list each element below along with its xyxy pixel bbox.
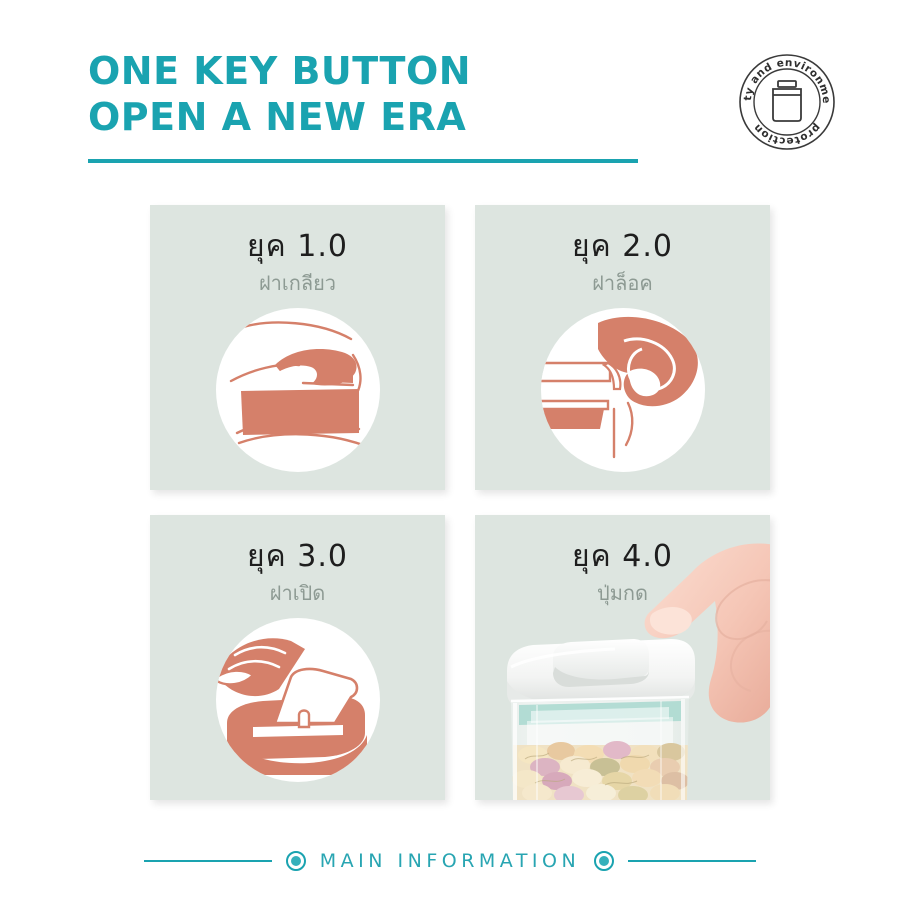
page-header: ONE KEY BUTTON OPEN A NEW ERA xyxy=(88,48,688,163)
era-card-2-title: ยุค 2.0 xyxy=(475,223,770,270)
footer-dot-left-icon xyxy=(286,851,306,871)
hand-twisting-screw-cap-icon xyxy=(213,305,383,475)
era-card-1-title: ยุค 1.0 xyxy=(150,223,445,270)
era-card-4-title: ยุค 4.0 xyxy=(475,533,770,580)
footer-line-left xyxy=(144,860,272,862)
era-card-4-subtitle: ปุ่มกด xyxy=(475,577,770,609)
era-card-3-title: ยุค 3.0 xyxy=(150,533,445,580)
era-card-3[interactable]: ยุค 3.0 ฝาเปิด xyxy=(150,515,445,800)
era-card-3-illustration xyxy=(150,610,445,790)
page-title: ONE KEY BUTTON OPEN A NEW ERA xyxy=(88,48,688,141)
era-card-1-subtitle: ฝาเกลียว xyxy=(150,267,445,299)
footer-line-right xyxy=(628,860,756,862)
hand-lifting-flip-lid-icon xyxy=(213,615,383,785)
era-card-2-illustration xyxy=(475,300,770,480)
svg-text:protection: protection xyxy=(751,121,823,147)
era-card-1-illustration xyxy=(150,300,445,480)
clear-container xyxy=(511,697,689,800)
badge-icon: Safety and environmental protection xyxy=(735,50,839,154)
era-card-1[interactable]: ยุค 1.0 ฝาเกลียว xyxy=(150,205,445,490)
footer-dot-right-icon xyxy=(594,851,614,871)
era-card-grid: ยุค 1.0 ฝาเกลียว xyxy=(150,205,770,800)
footer-label: MAIN INFORMATION xyxy=(320,850,580,872)
hand-pulling-lock-clip-icon xyxy=(538,305,708,475)
container-jar-icon xyxy=(773,81,801,121)
era-card-3-subtitle: ฝาเปิด xyxy=(150,577,445,609)
era-card-2-subtitle: ฝาล็อค xyxy=(475,267,770,299)
era-card-4[interactable]: ยุค 4.0 ปุ่มกด xyxy=(475,515,770,800)
footer-main-information: MAIN INFORMATION xyxy=(0,850,900,872)
safety-environmental-protection-badge: Safety and environmental protection xyxy=(735,50,839,154)
pasta-fill xyxy=(512,741,689,800)
title-underline-rule xyxy=(88,159,638,163)
lid-push-button[interactable] xyxy=(553,639,649,687)
svg-text:Safety and environmental: Safety and environmental xyxy=(735,50,832,104)
era-card-2[interactable]: ยุค 2.0 ฝาล็อค xyxy=(475,205,770,490)
